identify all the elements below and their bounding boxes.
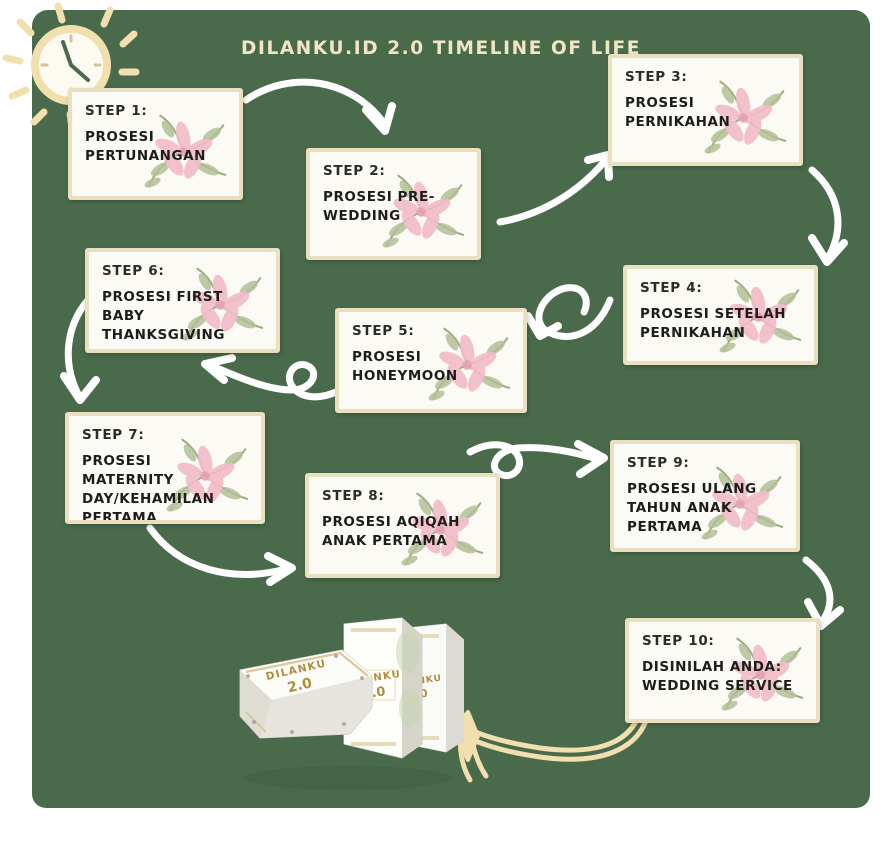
step-card-6[interactable]: STEP 6: PROSESI FIRST BABY THANKSGIVING: [85, 248, 280, 353]
step-card-4[interactable]: STEP 4: PROSESI SETELAH PERNIKAHAN: [623, 265, 818, 365]
step-label: STEP 2:: [323, 163, 464, 179]
step-body: PROSESI AQIQAH ANAK PERTAMA: [322, 513, 483, 551]
step-card-1[interactable]: STEP 1: PROSESI PERTUNANGAN: [68, 88, 243, 200]
step-card-7[interactable]: STEP 7: PROSESI MATERNITY DAY/KEHAMILAN …: [65, 412, 265, 524]
product-box-front: DILANKU 2.0: [240, 650, 372, 738]
infographic-canvas: DILANKU.ID 2.0 TIMELINE OF LIFE STEP 1: …: [0, 0, 882, 844]
step-label: STEP 6:: [102, 263, 263, 279]
step-label: STEP 8:: [322, 488, 483, 504]
step-card-9[interactable]: STEP 9: PROSESI ULANG TAHUN ANAK PERTAMA: [610, 440, 800, 552]
step-label: STEP 1:: [85, 103, 226, 119]
step-body: PROSESI PRE- WEDDING: [323, 188, 464, 226]
step-label: STEP 5:: [352, 323, 510, 339]
step-body: PROSESI HONEYMOON: [352, 348, 510, 386]
step-label: STEP 4:: [640, 280, 801, 296]
step-label: STEP 9:: [627, 455, 783, 471]
step-body: PROSESI SETELAH PERNIKAHAN: [640, 305, 801, 343]
step-card-3[interactable]: STEP 3: PROSESI PERNIKAHAN: [608, 54, 803, 166]
step-label: STEP 7:: [82, 427, 248, 443]
step-body: PROSESI ULANG TAHUN ANAK PERTAMA: [627, 480, 783, 537]
step-label: STEP 3:: [625, 69, 786, 85]
step-label: STEP 10:: [642, 633, 803, 649]
step-body: PROSESI FIRST BABY THANKSGIVING: [102, 288, 263, 345]
step-body: PROSESI MATERNITY DAY/KEHAMILAN PERTAMA: [82, 452, 248, 524]
step-body: DISINILAH ANDA: WEDDING SERVICE: [642, 658, 803, 696]
step-card-5[interactable]: STEP 5: PROSESI HONEYMOON: [335, 308, 527, 413]
product-boxes-image: DILANKU 2.0 DILANKU 2.0: [232, 612, 464, 790]
step-card-10[interactable]: STEP 10: DISINILAH ANDA: WEDDING SERVICE: [625, 618, 820, 723]
step-body: PROSESI PERTUNANGAN: [85, 128, 226, 166]
step-card-2[interactable]: STEP 2: PROSESI PRE- WEDDING: [306, 148, 481, 260]
step-card-8[interactable]: STEP 8: PROSESI AQIQAH ANAK PERTAMA: [305, 473, 500, 578]
step-body: PROSESI PERNIKAHAN: [625, 94, 786, 132]
